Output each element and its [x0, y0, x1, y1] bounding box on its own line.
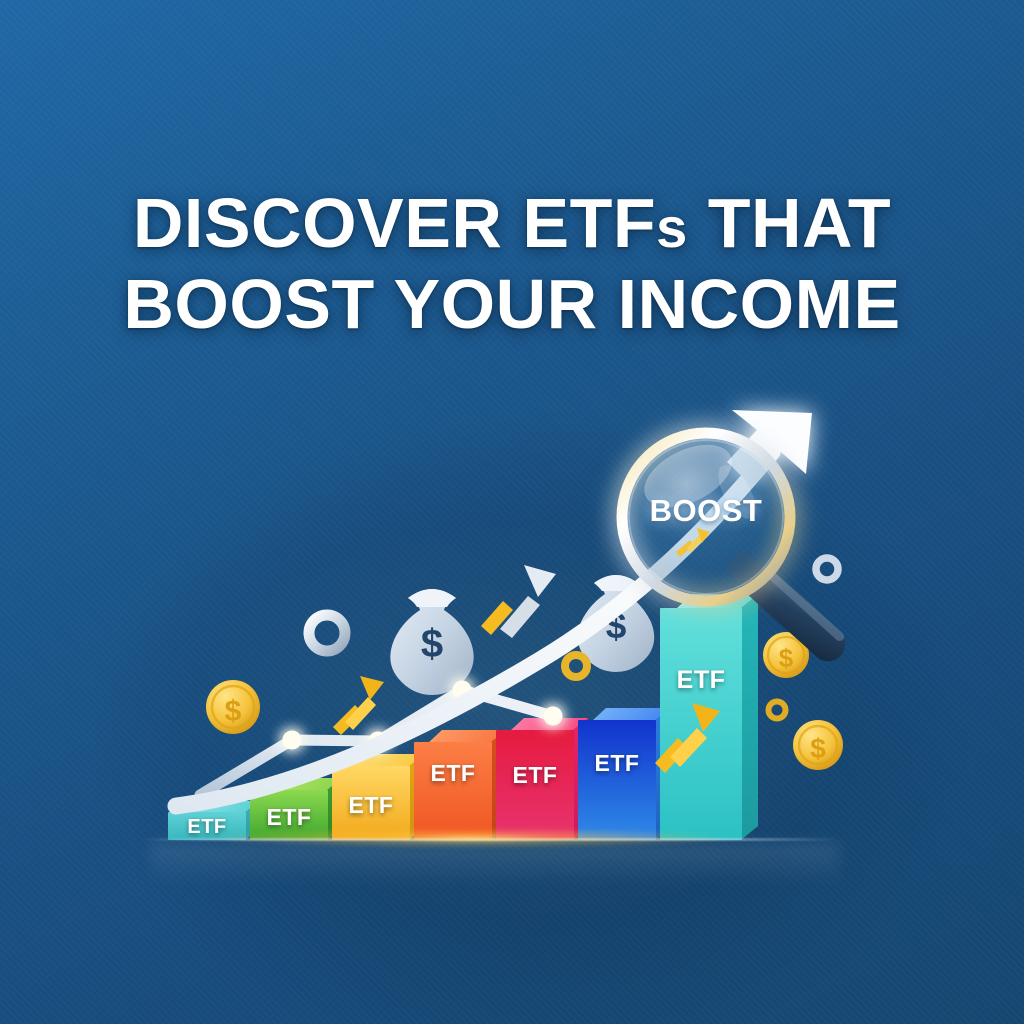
headline-line-1s: s [656, 196, 688, 259]
headline-line-1: DISCOVER ETFs THAT [0, 185, 1024, 266]
headline-line-1b: THAT [688, 184, 891, 262]
headline-line-1a: DISCOVER ETF [133, 184, 656, 262]
poster-canvas: DISCOVER ETFs THAT BOOST YOUR INCOME ETF [0, 0, 1024, 1024]
magnifier-icon[interactable] [0, 0, 1024, 1024]
illustration: ETF ETF ETF ETF ETF [0, 0, 1024, 1024]
page-title: DISCOVER ETFs THAT BOOST YOUR INCOME [0, 185, 1024, 342]
headline-line-2: BOOST YOUR INCOME [0, 266, 1024, 342]
magnifier-lens-label: BOOST [626, 493, 786, 529]
